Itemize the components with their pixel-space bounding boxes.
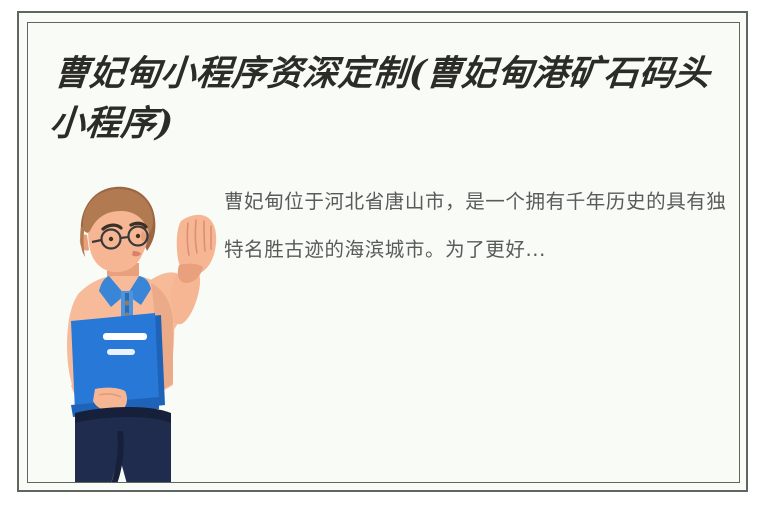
page-root: 曹妃甸小程序资深定制(曹妃甸港矿石码头小程序) 曹妃甸位于河北省唐山市，是一个拥… [0, 0, 768, 510]
folder-label-line-2 [107, 349, 135, 355]
eye-right [136, 234, 140, 238]
illustration-waving-man [41, 173, 226, 483]
eye-left [109, 237, 113, 241]
folder-label-line-1 [103, 333, 147, 340]
inner-frame-border: 曹妃甸小程序资深定制(曹妃甸港矿石码头小程序) 曹妃甸位于河北省唐山市，是一个拥… [27, 22, 740, 483]
waving-man-illustration-svg [41, 173, 226, 483]
body-paragraph: 曹妃甸位于河北省唐山市，是一个拥有千年历史的具有独特名胜古迹的海滨城市。为了更好… [224, 178, 729, 274]
page-title: 曹妃甸小程序资深定制(曹妃甸港矿石码头小程序) [48, 49, 725, 148]
